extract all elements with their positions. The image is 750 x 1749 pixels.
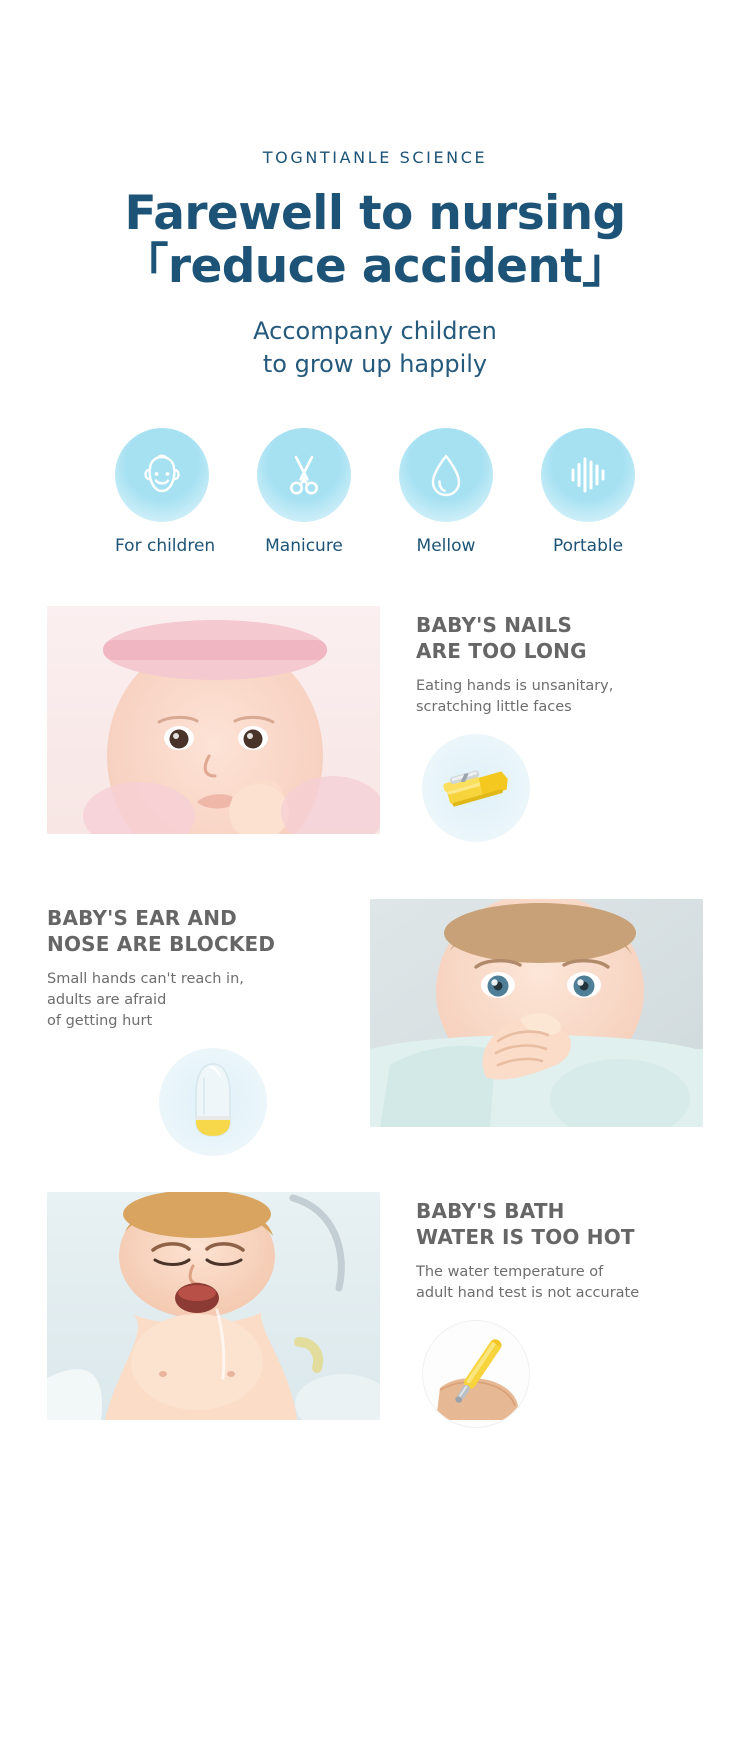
brand-eyebrow: TOGNTIANLE SCIENCE — [0, 150, 750, 166]
feature-description: Small hands can't reach in, adults are a… — [47, 969, 347, 1032]
scissors-icon — [257, 428, 351, 522]
product-thumb-nasal-aspirator[interactable] — [159, 1048, 267, 1156]
feature-description: Eating hands is unsanitary, scratching l… — [416, 676, 716, 718]
desc-line-3: of getting hurt — [47, 1011, 347, 1032]
water-drop-icon — [399, 428, 493, 522]
feature-heading: BABY'S BATH WATER IS TOO HOT — [416, 1198, 716, 1250]
subtitle-line-1: Accompany children — [0, 315, 750, 347]
sound-bars-icon — [541, 428, 635, 522]
feature-block-bath-water: BABY'S BATH WATER IS TOO HOT The water t… — [0, 1192, 750, 1438]
feature-label: Manicure — [257, 536, 351, 556]
heading-line-2: ARE TOO LONG — [416, 638, 716, 664]
subtitle-line-2: to grow up happily — [0, 348, 750, 380]
feature-label: For children — [115, 536, 209, 556]
photo-baby-rubbing-nose — [370, 899, 703, 1127]
desc-line-1: The water temperature of — [416, 1262, 716, 1283]
product-thumb-nail-clipper[interactable] — [422, 734, 530, 842]
feature-label: Portable — [541, 536, 635, 556]
feature-icon-row: For children Manicure Mellow — [0, 428, 750, 556]
desc-line-2: adult hand test is not accurate — [416, 1283, 716, 1304]
page-title: Farewell to nursing 「reduce accident」 — [0, 188, 750, 293]
heading-line-2: NOSE ARE BLOCKED — [47, 931, 347, 957]
headline-line-2: 「reduce accident」 — [0, 241, 750, 294]
page-subtitle: Accompany children to grow up happily — [0, 315, 750, 380]
heading-line-1: BABY'S BATH — [416, 1198, 716, 1224]
headline-line-1: Farewell to nursing — [124, 186, 625, 241]
desc-line-2: adults are afraid — [47, 990, 347, 1011]
feature-label: Mellow — [399, 536, 493, 556]
heading-line-2: WATER IS TOO HOT — [416, 1224, 716, 1250]
heading-line-1: BABY'S NAILS — [416, 612, 716, 638]
feature-content: BABY'S NAILS ARE TOO LONG Eating hands i… — [416, 612, 716, 842]
photo-baby-hand-in-mouth — [47, 606, 380, 834]
feature-content: BABY'S EAR AND NOSE ARE BLOCKED Small ha… — [47, 905, 347, 1156]
photo-crying-baby-in-bath — [47, 1192, 380, 1420]
desc-line-1: Small hands can't reach in, — [47, 969, 347, 990]
feature-heading: BABY'S EAR AND NOSE ARE BLOCKED — [47, 905, 347, 957]
product-thumb-thermometer[interactable] — [422, 1320, 530, 1428]
baby-face-icon — [115, 428, 209, 522]
feature-blocks: BABY'S NAILS ARE TOO LONG Eating hands i… — [0, 606, 750, 1438]
feature-item-manicure[interactable]: Manicure — [257, 428, 351, 556]
desc-line-1: Eating hands is unsanitary, — [416, 676, 716, 697]
heading-line-1: BABY'S EAR AND — [47, 905, 347, 931]
feature-block-ear-nose: BABY'S EAR AND NOSE ARE BLOCKED Small ha… — [0, 899, 750, 1145]
feature-description: The water temperature of adult hand test… — [416, 1262, 716, 1304]
page-header: TOGNTIANLE SCIENCE Farewell to nursing 「… — [0, 0, 750, 380]
feature-item-portable[interactable]: Portable — [541, 428, 635, 556]
feature-content: BABY'S BATH WATER IS TOO HOT The water t… — [416, 1198, 716, 1428]
feature-item-for-children[interactable]: For children — [115, 428, 209, 556]
feature-heading: BABY'S NAILS ARE TOO LONG — [416, 612, 716, 664]
desc-line-2: scratching little faces — [416, 697, 716, 718]
feature-block-nails: BABY'S NAILS ARE TOO LONG Eating hands i… — [0, 606, 750, 852]
feature-item-mellow[interactable]: Mellow — [399, 428, 493, 556]
